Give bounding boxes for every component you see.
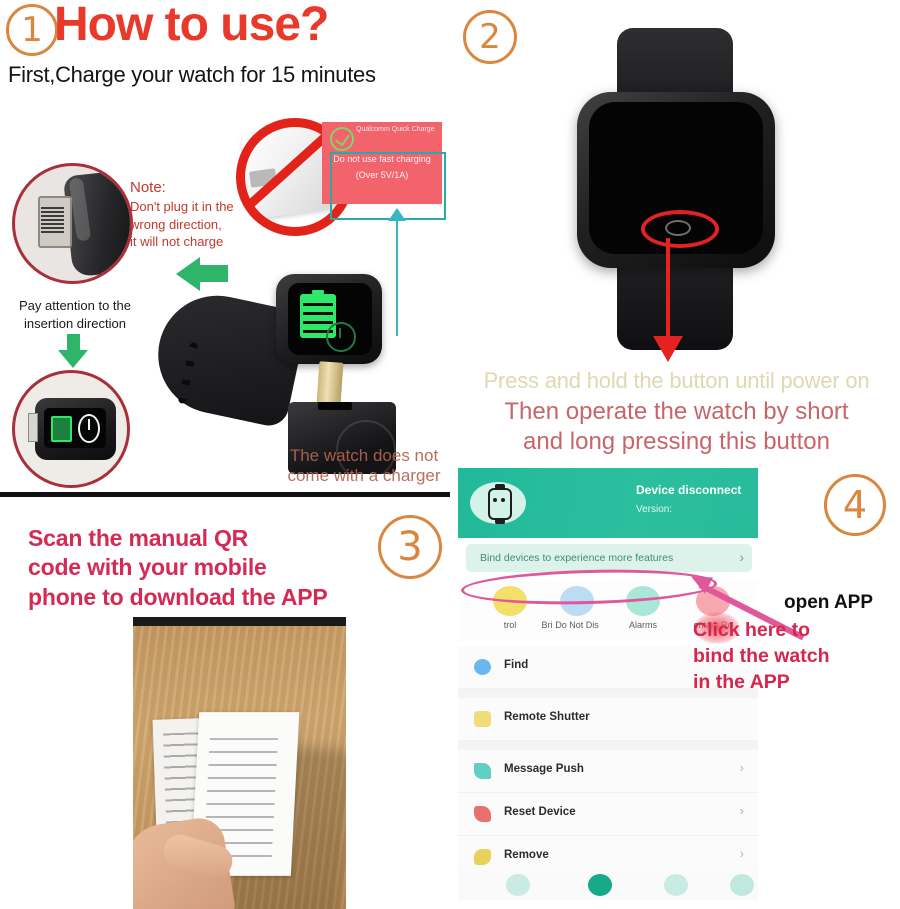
arrow-down-line bbox=[666, 238, 670, 344]
list-item-label: Remove bbox=[504, 849, 549, 861]
bind-devices-banner[interactable]: Bind devices to experience more features… bbox=[466, 544, 752, 572]
click-here-annotation: Click here to bind the watch in the APP bbox=[693, 618, 900, 696]
version-label: Version: bbox=[636, 504, 672, 515]
app-tab-bar bbox=[458, 868, 758, 900]
watch-eye-right bbox=[501, 498, 505, 502]
panel2-line-2: Then operate the watch by short and long… bbox=[461, 397, 892, 457]
remove-device-icon bbox=[474, 849, 491, 865]
arrow-head bbox=[58, 350, 88, 368]
remote-shutter-icon bbox=[474, 711, 491, 727]
charging-port-shape bbox=[28, 413, 38, 442]
open-app-annotation: open APP bbox=[784, 592, 873, 614]
pay-attention-text: Pay attention to the insertion direction bbox=[14, 297, 136, 332]
watch-charging-closeup-photo bbox=[12, 370, 130, 488]
note-body: Don't plug it in the wrong direction, it… bbox=[130, 198, 234, 251]
list-divider bbox=[458, 741, 758, 750]
quick-charge-brand-label: Qualcomm Quick Charge bbox=[356, 126, 435, 135]
list-item-reset-device[interactable]: Reset Device › bbox=[458, 793, 758, 836]
arrow-down-icon bbox=[653, 336, 683, 362]
usb-pins-shape bbox=[41, 207, 64, 232]
list-item-remote-shutter[interactable]: Remote Shutter bbox=[458, 698, 758, 741]
device-status-label: Device disconnect bbox=[636, 483, 741, 497]
sport-tab-icon[interactable] bbox=[664, 874, 688, 896]
health-tab-icon[interactable] bbox=[588, 874, 612, 896]
quick-charge-icon bbox=[330, 127, 354, 151]
manual-photo-icon bbox=[133, 617, 346, 909]
note-heading: Note: bbox=[130, 178, 234, 198]
app-header: Device disconnect Version: bbox=[458, 468, 758, 538]
step-badge-3: 3 bbox=[378, 515, 442, 579]
list-item-label: Reset Device bbox=[504, 806, 576, 818]
power-icon bbox=[326, 322, 356, 352]
list-item-label: Remote Shutter bbox=[504, 711, 590, 723]
watch-eye-left bbox=[493, 498, 497, 502]
panel1-title: How to use? bbox=[54, 0, 328, 50]
step-badge-1: 1 bbox=[6, 4, 58, 56]
chevron-right-icon: › bbox=[740, 846, 744, 861]
dock-slot-shape bbox=[318, 402, 352, 410]
chevron-right-icon: › bbox=[739, 549, 744, 565]
panel3-title: Scan the manual QR code with your mobile… bbox=[28, 524, 368, 612]
bind-devices-label: Bind devices to experience more features bbox=[480, 552, 673, 564]
list-item-message-push[interactable]: Message Push › bbox=[458, 750, 758, 793]
watch-glyph bbox=[488, 488, 512, 520]
message-push-icon bbox=[474, 763, 491, 779]
list-item-label: Message Push bbox=[504, 763, 584, 775]
quick-label-2: Do Not Dis bbox=[548, 620, 606, 630]
panel-divider-vertical bbox=[450, 0, 453, 900]
step-badge-4: 4 bbox=[824, 474, 886, 536]
profile-tab-icon[interactable] bbox=[730, 874, 754, 896]
infographic-page: 1 How to use? First,Charge your watch fo… bbox=[0, 0, 900, 900]
arrow-down-icon bbox=[58, 334, 88, 368]
chevron-right-icon: › bbox=[740, 803, 744, 818]
find-device-icon bbox=[474, 659, 491, 675]
chevron-right-icon: › bbox=[740, 760, 744, 775]
watch-avatar-icon bbox=[470, 482, 526, 524]
usb-port-closeup-photo bbox=[12, 163, 133, 284]
panel-step-2: 2 Press and hold the button until power … bbox=[453, 0, 900, 462]
step-badge-2: 2 bbox=[463, 10, 517, 64]
arrow-up-icon bbox=[388, 208, 406, 221]
usb-plug-shape bbox=[317, 361, 344, 405]
teal-pointer-line bbox=[396, 216, 398, 336]
power-icon bbox=[78, 414, 100, 443]
smartwatch-icon bbox=[561, 28, 791, 348]
panel-step-1: 1 How to use? First,Charge your watch fo… bbox=[0, 0, 453, 497]
battery-icon bbox=[51, 416, 72, 442]
reset-device-icon bbox=[474, 806, 491, 822]
list-item-label: Find bbox=[504, 659, 528, 671]
panel2-line-1: Press and hold the button until power on bbox=[461, 368, 892, 394]
panel1-subtitle: First,Charge your watch for 15 minutes bbox=[8, 62, 376, 88]
home-button-shape bbox=[665, 220, 691, 236]
no-charger-disclaimer: The watch does not come with a charger bbox=[278, 446, 450, 485]
note-text-block: Note: Don't plug it in the wrong directi… bbox=[130, 178, 234, 251]
panel-divider-horizontal bbox=[450, 458, 900, 464]
device-tab-icon[interactable] bbox=[506, 874, 530, 896]
quick-label-3: Alarms bbox=[614, 620, 672, 630]
